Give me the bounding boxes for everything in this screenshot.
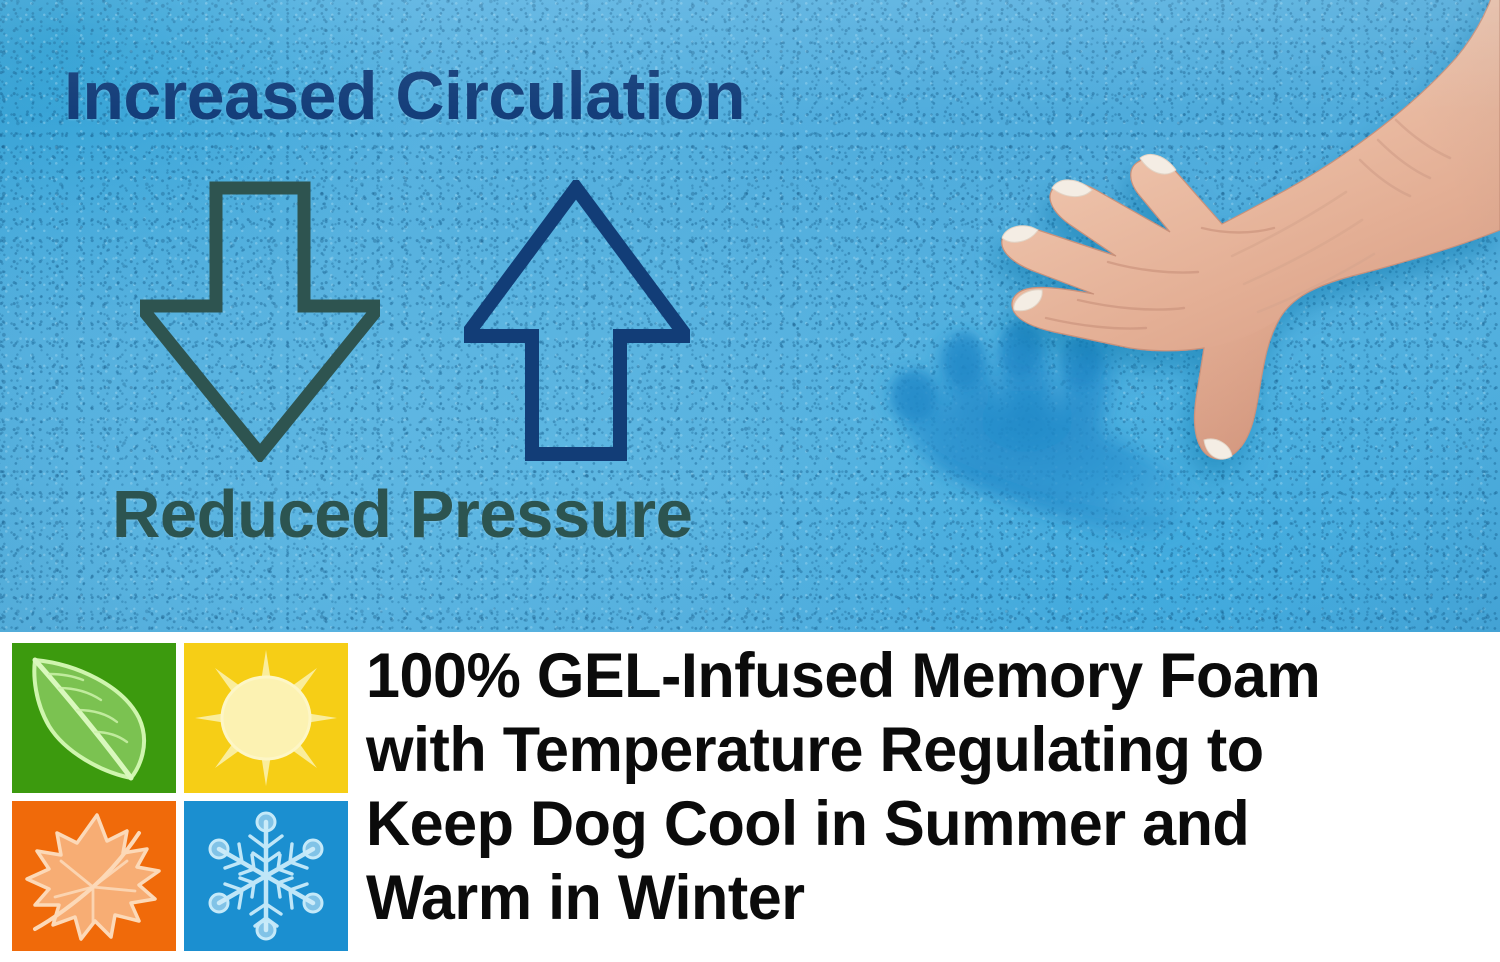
season-tile-summer bbox=[184, 643, 348, 793]
four-season-icon-grid bbox=[12, 643, 348, 951]
season-tile-winter bbox=[184, 801, 348, 951]
headline-line-1: 100% GEL-Infused Memory Foam bbox=[366, 639, 1460, 713]
product-feature-graphic: Increased Circulation Reduced Pressure bbox=[0, 0, 1500, 962]
headline-line-3: Keep Dog Cool in Summer and bbox=[366, 787, 1460, 861]
leaf-icon bbox=[19, 648, 169, 788]
season-tile-spring bbox=[12, 643, 176, 793]
sun-icon bbox=[193, 648, 339, 788]
headline-line-2: with Temperature Regulating to bbox=[366, 713, 1460, 787]
gel-foam-photo: Increased Circulation Reduced Pressure bbox=[0, 0, 1500, 632]
headline-line-4: Warm in Winter bbox=[366, 861, 1460, 935]
maple-leaf-icon bbox=[19, 805, 169, 947]
photo-vignette bbox=[0, 0, 1500, 632]
snowflake-icon bbox=[195, 806, 337, 946]
feature-callout-panel: 100% GEL-Infused Memory Foam with Temper… bbox=[0, 632, 1500, 962]
headline-text: 100% GEL-Infused Memory Foam with Temper… bbox=[366, 639, 1460, 935]
season-tile-autumn bbox=[12, 801, 176, 951]
